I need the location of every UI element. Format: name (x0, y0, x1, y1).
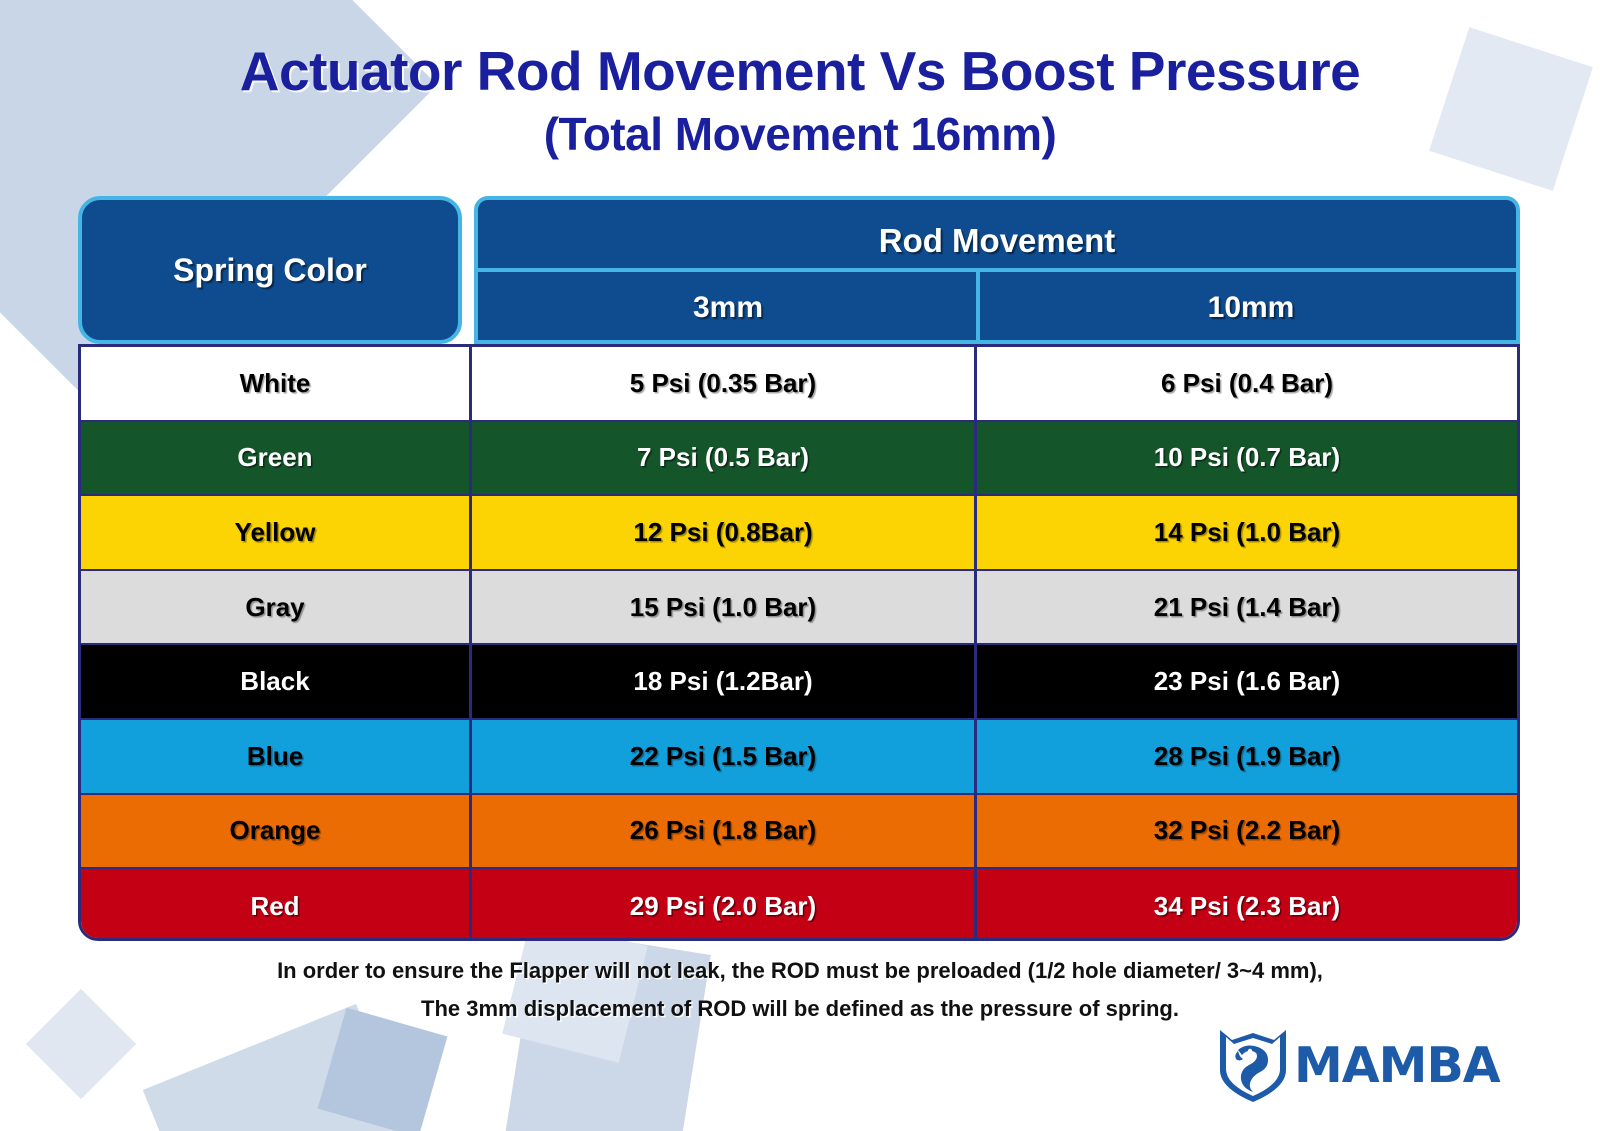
table-header: Spring Color Rod Movement 3mm 10mm (78, 196, 1520, 344)
cell-3mm: 12 Psi (0.8Bar) (472, 496, 977, 569)
cell-10mm: 21 Psi (1.4 Bar) (977, 571, 1517, 644)
cell-10mm: 10 Psi (0.7 Bar) (977, 422, 1517, 495)
cell-10mm: 32 Psi (2.2 Bar) (977, 795, 1517, 868)
cell-3mm: 22 Psi (1.5 Bar) (472, 720, 977, 793)
page-title: Actuator Rod Movement Vs Boost Pressure (0, 42, 1600, 101)
table-row: Red29 Psi (2.0 Bar)34 Psi (2.3 Bar) (81, 869, 1517, 941)
cell-3mm: 7 Psi (0.5 Bar) (472, 422, 977, 495)
header-col-3mm: 3mm (478, 272, 978, 344)
table-row: Gray15 Psi (1.0 Bar)21 Psi (1.4 Bar) (81, 571, 1517, 646)
logo-wordmark: MAMBA (1294, 1037, 1500, 1094)
cell-3mm: 26 Psi (1.8 Bar) (472, 795, 977, 868)
footnote-line-1: In order to ensure the Flapper will not … (0, 952, 1600, 990)
cell-spring-color: Red (81, 869, 472, 941)
table-body: White5 Psi (0.35 Bar)6 Psi (0.4 Bar)Gree… (78, 344, 1520, 941)
cell-spring-color: Gray (81, 571, 472, 644)
footnote-line-2: The 3mm displacement of ROD will be defi… (0, 990, 1600, 1028)
cell-spring-color: Black (81, 645, 472, 718)
footnote-block: In order to ensure the Flapper will not … (0, 952, 1600, 1028)
cell-3mm: 18 Psi (1.2Bar) (472, 645, 977, 718)
table-row: Green7 Psi (0.5 Bar)10 Psi (0.7 Bar) (81, 422, 1517, 497)
cell-3mm: 15 Psi (1.0 Bar) (472, 571, 977, 644)
cell-10mm: 34 Psi (2.3 Bar) (977, 869, 1517, 941)
mamba-snake-shield-icon (1216, 1026, 1290, 1104)
pressure-table: Spring Color Rod Movement 3mm 10mm White… (78, 196, 1520, 941)
cell-spring-color: Orange (81, 795, 472, 868)
infographic-page: Actuator Rod Movement Vs Boost Pressure … (0, 0, 1600, 1131)
cell-3mm: 5 Psi (0.35 Bar) (472, 347, 977, 420)
header-col-10mm: 10mm (986, 272, 1516, 344)
table-row: Orange26 Psi (1.8 Bar)32 Psi (2.2 Bar) (81, 795, 1517, 870)
cell-10mm: 6 Psi (0.4 Bar) (977, 347, 1517, 420)
page-subtitle: (Total Movement 16mm) (0, 105, 1600, 165)
cell-10mm: 28 Psi (1.9 Bar) (977, 720, 1517, 793)
brand-logo: MAMBA (1216, 1024, 1508, 1106)
table-row: White5 Psi (0.35 Bar)6 Psi (0.4 Bar) (81, 347, 1517, 422)
cell-10mm: 23 Psi (1.6 Bar) (977, 645, 1517, 718)
table-row: Blue22 Psi (1.5 Bar)28 Psi (1.9 Bar) (81, 720, 1517, 795)
cell-spring-color: Green (81, 422, 472, 495)
cell-3mm: 29 Psi (2.0 Bar) (472, 869, 977, 941)
table-row: Black18 Psi (1.2Bar)23 Psi (1.6 Bar) (81, 645, 1517, 720)
header-spring-color: Spring Color (78, 196, 462, 344)
cell-spring-color: Blue (81, 720, 472, 793)
cell-10mm: 14 Psi (1.0 Bar) (977, 496, 1517, 569)
title-block: Actuator Rod Movement Vs Boost Pressure … (0, 42, 1600, 165)
table-row: Yellow12 Psi (0.8Bar)14 Psi (1.0 Bar) (81, 496, 1517, 571)
cell-spring-color: Yellow (81, 496, 472, 569)
cell-spring-color: White (81, 347, 472, 420)
